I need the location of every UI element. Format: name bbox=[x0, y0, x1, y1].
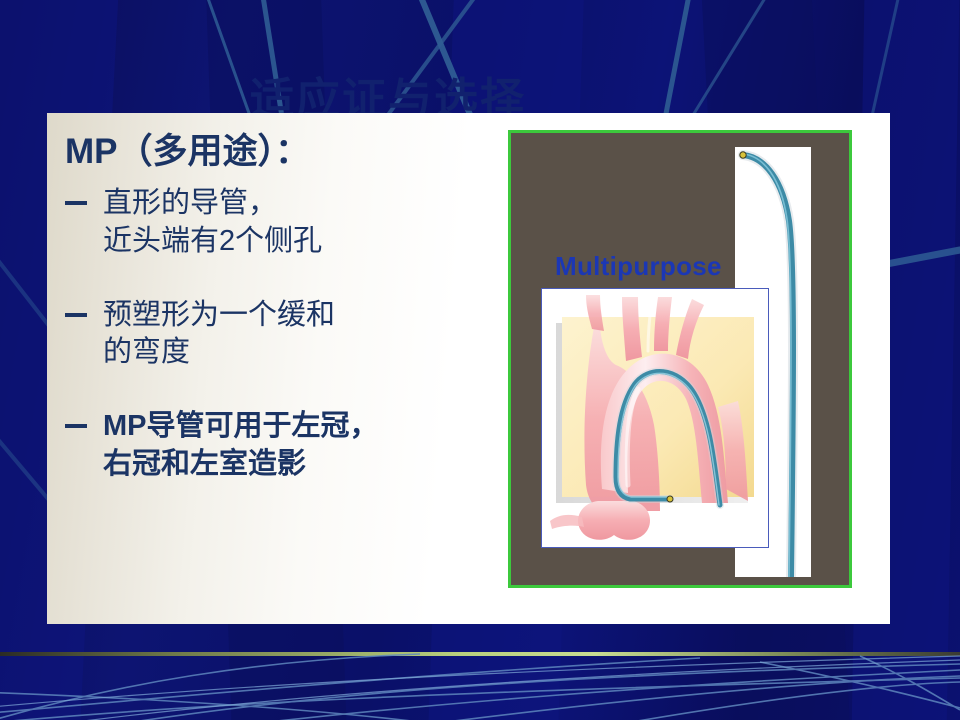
dash-marker-icon bbox=[65, 424, 87, 428]
list-item: 直形的导管， 近头端有2个侧孔 bbox=[65, 185, 485, 260]
aortic-arch-illustration bbox=[542, 289, 768, 547]
list-item: MP导管可用于左冠， 右冠和左室造影 bbox=[65, 408, 485, 483]
figure-label: Multipurpose bbox=[555, 251, 722, 282]
list-item-text: 直形的导管， 近头端有2个侧孔 bbox=[103, 185, 322, 260]
list-item-text: 预塑形为一个缓和 的弯度 bbox=[103, 297, 335, 372]
slide-canvas: 适应证与选择 MP（多用途）： 直形的导管， 近头端有2个侧孔 预塑形为一个缓和… bbox=[0, 0, 960, 720]
aortic-arch-card bbox=[541, 288, 769, 548]
list-item: 预塑形为一个缓和 的弯度 bbox=[65, 297, 485, 372]
list-item-text: MP导管可用于左冠， 右冠和左室造影 bbox=[103, 408, 379, 483]
bullet-list: MP（多用途）： 直形的导管， 近头端有2个侧孔 预塑形为一个缓和 的弯度 MP… bbox=[65, 132, 485, 483]
background-arcs bbox=[0, 652, 960, 720]
section-heading: MP（多用途）： bbox=[65, 132, 485, 171]
figure-card: Multipurpose bbox=[508, 130, 852, 588]
dash-marker-icon bbox=[65, 313, 87, 317]
dash-marker-icon bbox=[65, 201, 87, 205]
